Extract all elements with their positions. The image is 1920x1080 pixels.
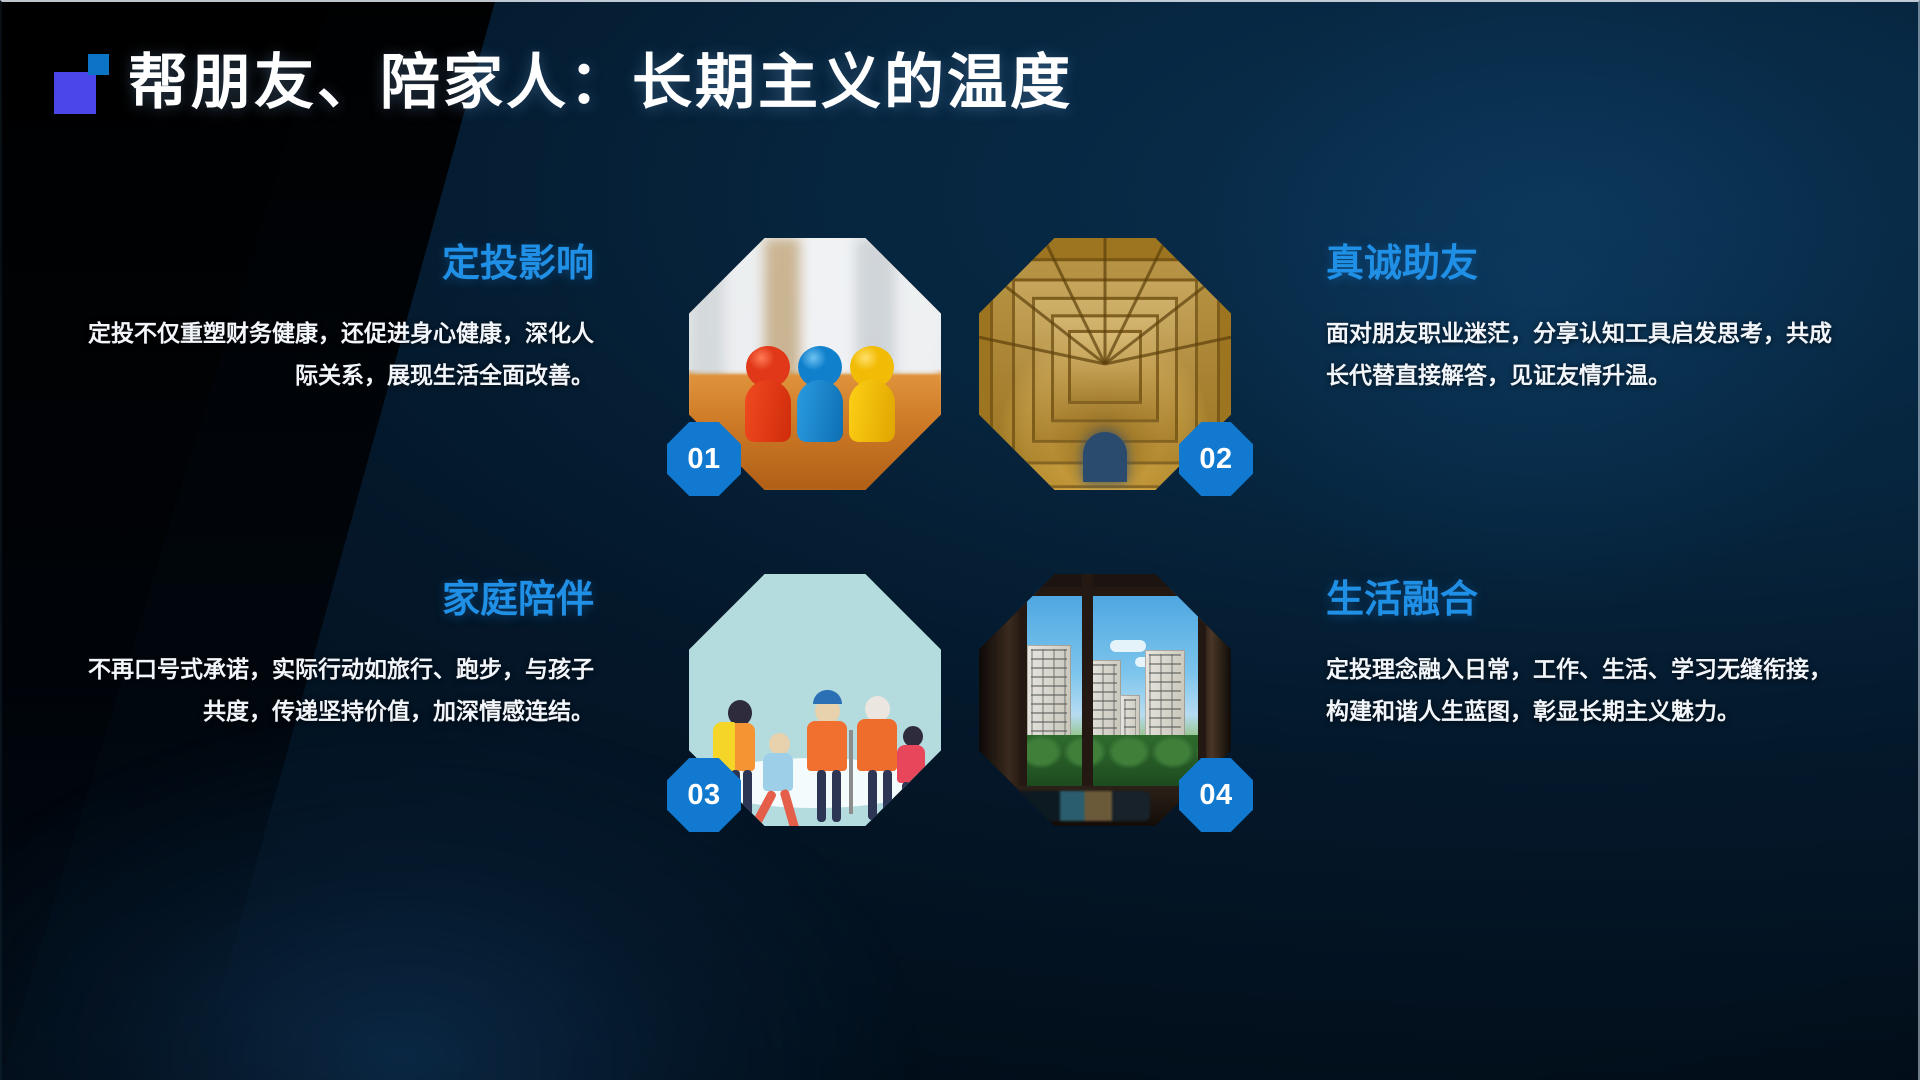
page-title: 帮朋友、陪家人：长期主义的温度 <box>128 53 1073 113</box>
marker-small-square <box>88 54 109 75</box>
title-square-marker-icon <box>48 52 110 114</box>
card-text-01: 定投影响 定投不仅重塑财务健康，还促进身心健康，深化人际关系，展现生活全面改善。 <box>0 236 620 566</box>
card-image-wrap-03[interactable]: 03 <box>689 574 941 826</box>
card-body-02: 面对朋友职业迷茫，分享认知工具启发思考，共成长代替直接解答，见证友情升温。 <box>1326 312 1846 397</box>
card-text-02: 真诚助友 面对朋友职业迷茫，分享认知工具启发思考，共成长代替直接解答，见证友情升… <box>1300 236 1920 566</box>
cards-images-row-1: 01 <box>620 236 1300 566</box>
card-image-wrap-01[interactable]: 01 <box>689 238 941 490</box>
slide-title-row: 帮朋友、陪家人：长期主义的温度 <box>48 52 1073 114</box>
card-body-04: 定投理念融入日常，工作、生活、学习无缝衔接，构建和谐人生蓝图，彰显长期主义魅力。 <box>1326 648 1846 733</box>
card-body-01: 定投不仅重塑财务健康，还促进身心健康，深化人际关系，展现生活全面改善。 <box>74 312 594 397</box>
card-text-03: 家庭陪伴 不再口号式承诺，实际行动如旅行、跑步，与孩子共度，传递坚持价值，加深情… <box>0 572 620 902</box>
presentation-slide: 帮朋友、陪家人：长期主义的温度 定投影响 定投不仅重塑财务健康，还促进身心健康，… <box>0 0 1920 1080</box>
cards-images-row-2: 03 <box>620 572 1300 902</box>
card-title-04: 生活融合 <box>1326 580 1478 622</box>
card-body-03: 不再口号式承诺，实际行动如旅行、跑步，与孩子共度，传递坚持价值，加深情感连结。 <box>74 648 594 733</box>
card-text-04: 生活融合 定投理念融入日常，工作、生活、学习无缝衔接，构建和谐人生蓝图，彰显长期… <box>1300 572 1920 902</box>
marker-large-square <box>54 72 96 114</box>
card-image-wrap-02[interactable]: 02 <box>979 238 1231 490</box>
card-image-wrap-04[interactable]: 04 <box>979 574 1231 826</box>
cards-grid: 定投影响 定投不仅重塑财务健康，还促进身心健康，深化人际关系，展现生活全面改善。 <box>0 236 1920 936</box>
cards-row-1: 定投影响 定投不仅重塑财务健康，还促进身心健康，深化人际关系，展现生活全面改善。 <box>0 236 1920 566</box>
cards-row-2: 家庭陪伴 不再口号式承诺，实际行动如旅行、跑步，与孩子共度，传递坚持价值，加深情… <box>0 572 1920 902</box>
card-title-01: 定投影响 <box>442 244 594 286</box>
card-title-02: 真诚助友 <box>1326 244 1478 286</box>
card-title-03: 家庭陪伴 <box>442 580 594 622</box>
